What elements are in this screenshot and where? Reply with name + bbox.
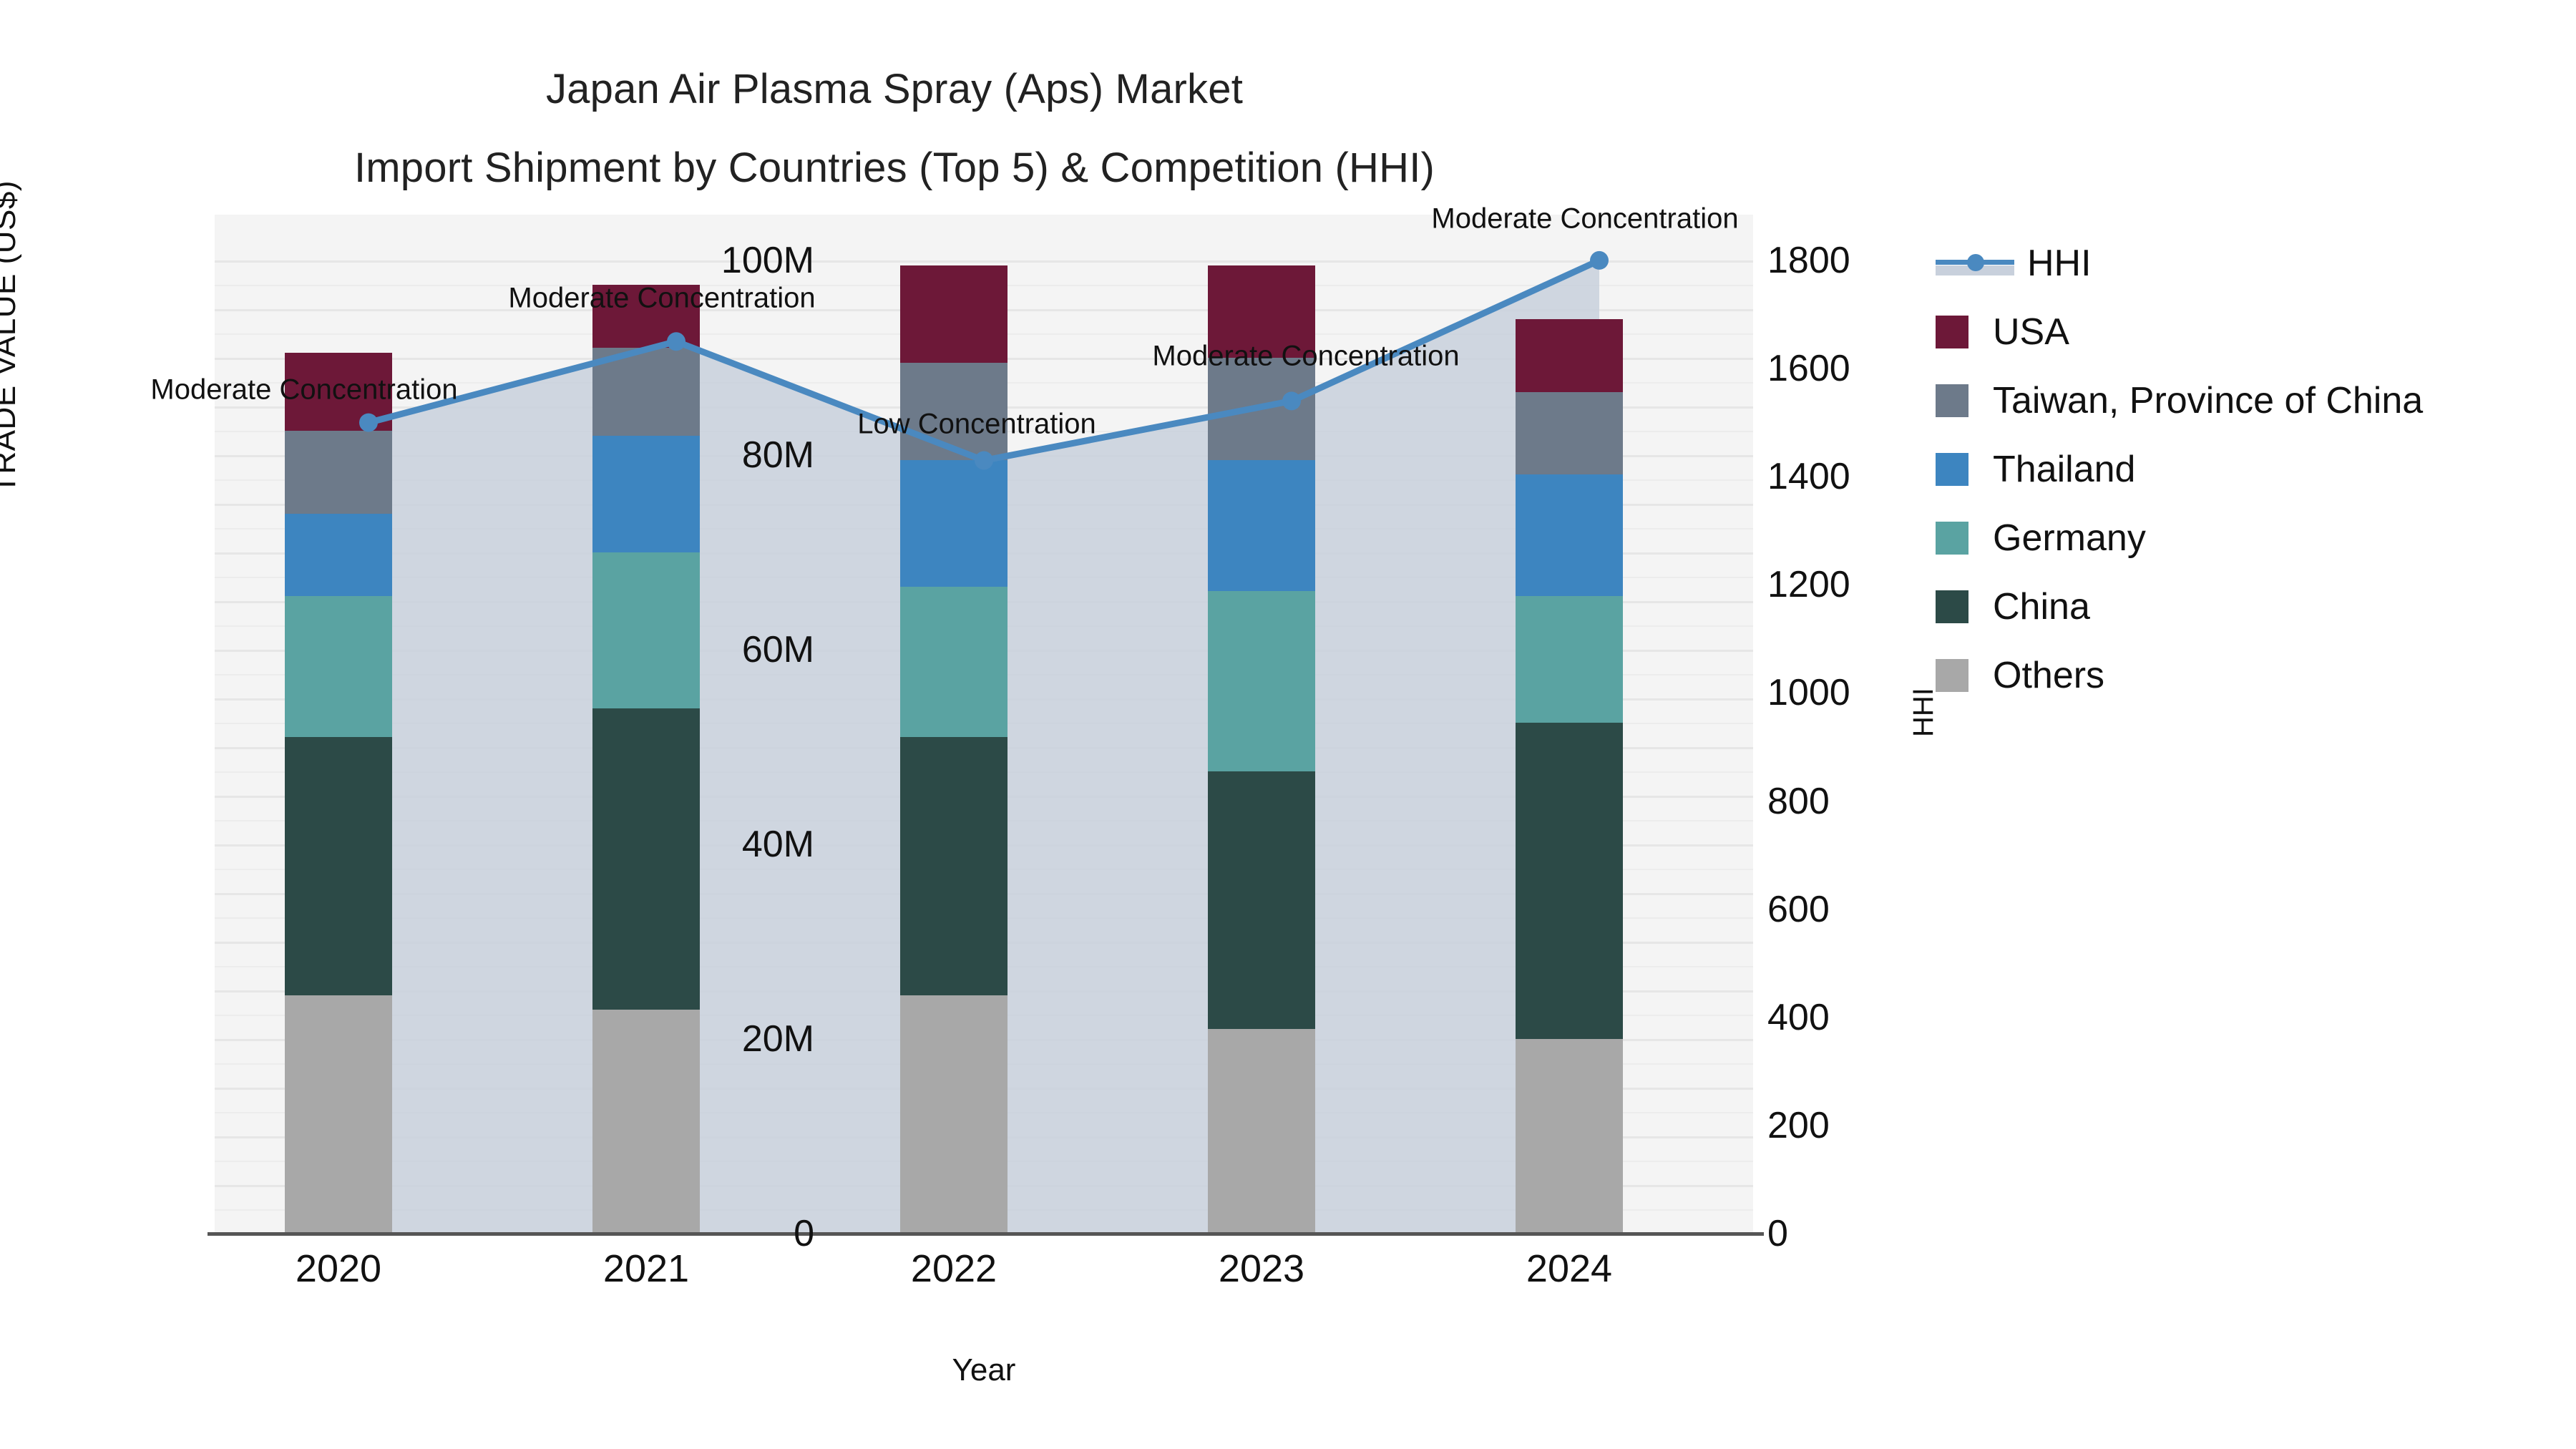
y-axis-left-tick: 40M <box>742 823 814 866</box>
hhi-marker[interactable] <box>667 332 686 351</box>
hhi-marker[interactable] <box>1590 251 1609 270</box>
title-line-1: Japan Air Plasma Spray (Aps) Market <box>0 50 1789 129</box>
legend-item[interactable]: Thailand <box>1936 435 2423 504</box>
y-axis-left-tick: 60M <box>742 628 814 671</box>
y-axis-right-tick: 1800 <box>1767 239 1850 282</box>
legend-line-marker <box>1967 254 1984 271</box>
hhi-annotation: Low Concentration <box>857 409 1096 441</box>
y-axis-left-tick: 0 <box>794 1212 814 1255</box>
legend-swatch <box>1936 316 1968 348</box>
y-axis-left-tick: 100M <box>721 239 814 282</box>
chart-title: Japan Air Plasma Spray (Aps) Market Impo… <box>0 50 1789 208</box>
title-line-2: Import Shipment by Countries (Top 5) & C… <box>0 129 1789 208</box>
legend-label: Taiwan, Province of China <box>1993 379 2423 422</box>
y-axis-right-tick: 1000 <box>1767 671 1850 714</box>
y-axis-right-tick: 400 <box>1767 996 1830 1039</box>
y-axis-left-tick: 20M <box>742 1018 814 1060</box>
legend-item[interactable]: China <box>1936 572 2423 641</box>
chart-legend: HHIUSATaiwan, Province of ChinaThailandG… <box>1936 229 2423 710</box>
legend-item[interactable]: Germany <box>1936 504 2423 572</box>
y-axis-right-tick: 0 <box>1767 1212 1788 1255</box>
x-axis-line <box>208 1232 1764 1236</box>
legend-label: China <box>1993 585 2090 628</box>
hhi-marker[interactable] <box>359 414 378 432</box>
legend-label: Others <box>1993 654 2104 697</box>
legend-label: USA <box>1993 311 2069 353</box>
legend-item[interactable]: HHI <box>1936 229 2423 298</box>
legend-swatch <box>1936 384 1968 417</box>
y-axis-right-tick: 800 <box>1767 780 1830 823</box>
legend-item[interactable]: Others <box>1936 641 2423 710</box>
y-axis-right-tick: 1400 <box>1767 455 1850 498</box>
legend-label: HHI <box>2027 242 2092 285</box>
legend-item[interactable]: Taiwan, Province of China <box>1936 366 2423 435</box>
legend-label: Thailand <box>1993 448 2135 491</box>
hhi-annotation: Moderate Concentration <box>150 374 457 406</box>
y-axis-right-tick: 1200 <box>1767 563 1850 606</box>
hhi-line <box>215 215 1753 1234</box>
x-axis-tick: 2024 <box>1526 1246 1612 1291</box>
hhi-annotation: Moderate Concentration <box>508 283 815 315</box>
hhi-marker[interactable] <box>975 451 993 469</box>
legend-swatch <box>1936 522 1968 555</box>
x-axis-tick: 2022 <box>911 1246 997 1291</box>
hhi-annotation: Moderate Concentration <box>1152 341 1459 373</box>
legend-item[interactable]: USA <box>1936 298 2423 366</box>
x-axis-tick: 2021 <box>603 1246 689 1291</box>
legend-swatch <box>1936 590 1968 623</box>
y-axis-right-tick: 200 <box>1767 1104 1830 1147</box>
y-axis-left-label: TRADE VALUE (US$) <box>0 180 23 494</box>
legend-label: Germany <box>1993 517 2146 560</box>
legend-swatch <box>1936 659 1968 692</box>
plot-area <box>215 215 1753 1234</box>
chart-root: Japan Air Plasma Spray (Aps) Market Impo… <box>0 0 2576 1449</box>
hhi-marker[interactable] <box>1282 391 1301 410</box>
x-axis-tick: 2020 <box>296 1246 381 1291</box>
y-axis-right-tick: 600 <box>1767 888 1830 931</box>
y-axis-right-tick: 1600 <box>1767 347 1850 390</box>
hhi-annotation: Moderate Concentration <box>1431 203 1738 235</box>
x-axis-tick: 2023 <box>1219 1246 1304 1291</box>
legend-line-swatch <box>1936 247 2014 280</box>
y-axis-left-tick: 80M <box>742 434 814 477</box>
plot-inner <box>215 215 1753 1234</box>
x-axis-label: Year <box>215 1352 1753 1388</box>
legend-swatch <box>1936 453 1968 486</box>
